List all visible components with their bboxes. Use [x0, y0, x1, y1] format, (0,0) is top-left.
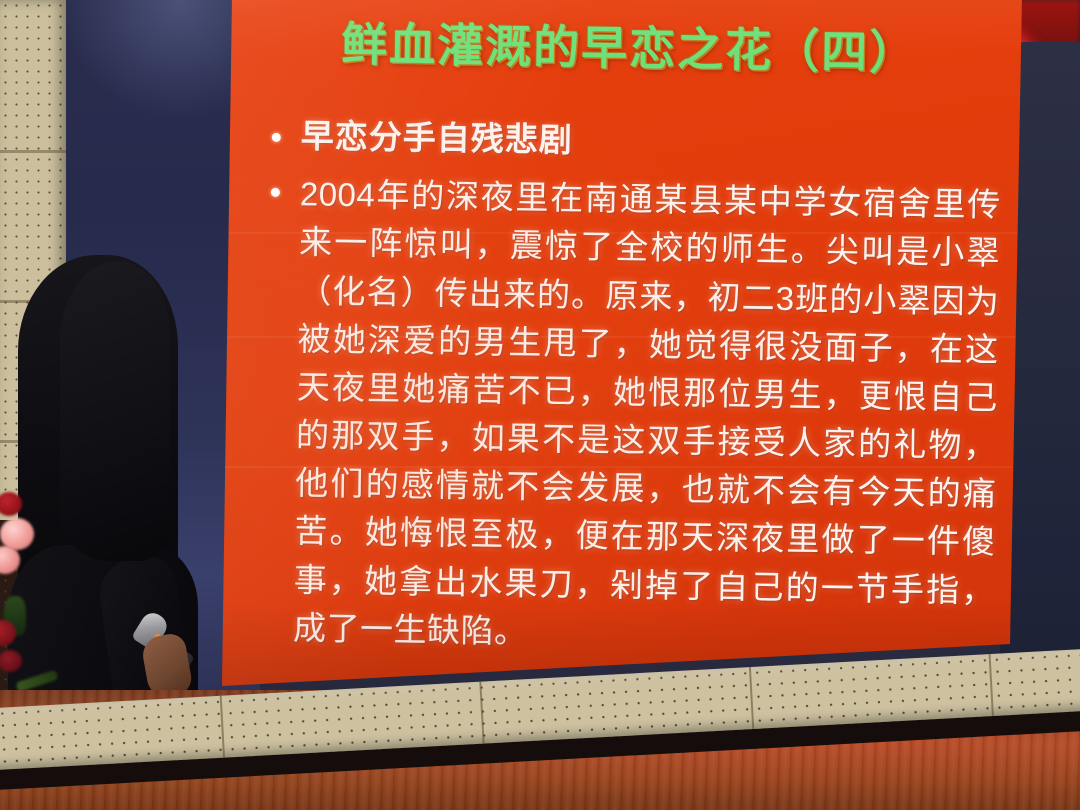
wall-base-area	[0, 610, 1080, 810]
slide-bullet-list: 早恋分手自残悲剧 2004年的深夜里在南通某县某中学女宿舍里传来一阵惊叫，震惊了…	[264, 115, 1002, 663]
list-item: 2004年的深夜里在南通某县某中学女宿舍里传来一阵惊叫，震惊了全校的师生。尖叫是…	[264, 170, 1001, 663]
bullet-dot-icon	[271, 188, 280, 197]
pink-rose	[0, 546, 20, 574]
bullet-headline-text: 早恋分手自残悲剧	[300, 115, 1002, 167]
presentation-slide: 鲜血灌溉的早恋之花（四） 早恋分手自残悲剧 2004年的深夜里在南通某县某中学女…	[211, 0, 1022, 698]
speaker-hair-front	[60, 261, 170, 561]
list-item: 早恋分手自残悲剧	[271, 115, 1002, 168]
photo-scene: 鲜血灌溉的早恋之花（四） 早恋分手自残悲剧 2004年的深夜里在南通某县某中学女…	[0, 0, 1080, 810]
slide-title: 鲜血灌溉的早恋之花（四）	[341, 8, 1002, 84]
bullet-story-text: 2004年的深夜里在南通某县某中学女宿舍里传来一阵惊叫，震惊了全校的师生。尖叫是…	[293, 171, 1001, 664]
red-rose	[0, 492, 22, 516]
projection-screen: 鲜血灌溉的早恋之花（四） 早恋分手自残悲剧 2004年的深夜里在南通某县某中学女…	[222, 0, 1022, 686]
bullet-dot-icon	[272, 133, 281, 142]
